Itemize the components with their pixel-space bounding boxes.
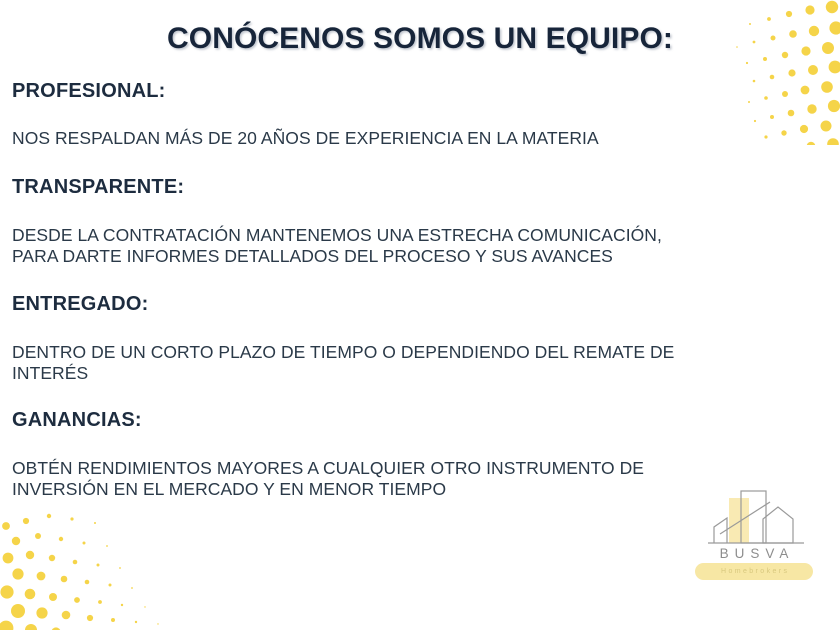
section-heading-profesional: PROFESIONAL:: [12, 80, 599, 103]
building-outline-icon: [700, 488, 815, 550]
section-body-ganancias: OBTÉN RENDIMIENTOS MAYORES A CUALQUIER O…: [12, 458, 644, 499]
section-body-transparente: DESDE LA CONTRATACIÓN MANTENEMOS UNA EST…: [12, 225, 662, 266]
section-ganancias: GANANCIAS: OBTÉN RENDIMIENTOS MAYORES A …: [12, 409, 644, 499]
section-profesional: PROFESIONAL: NOS RESPALDAN MÁS DE 20 AÑO…: [12, 80, 599, 149]
halftone-dots-icon-bottom-left: [0, 510, 175, 630]
section-heading-ganancias: GANANCIAS:: [12, 409, 644, 432]
section-entregado: ENTREGADO: DENTRO DE UN CORTO PLAZO DE T…: [12, 293, 674, 383]
company-logo: BUSVA Homebrokers: [690, 488, 818, 588]
section-heading-transparente: TRANSPARENTE:: [12, 176, 662, 199]
logo-tagline-pill: Homebrokers: [695, 563, 813, 580]
logo-tagline: Homebrokers: [695, 563, 813, 580]
section-body-entregado: DENTRO DE UN CORTO PLAZO DE TIEMPO O DEP…: [12, 342, 674, 383]
logo-name: BUSVA: [690, 546, 818, 561]
section-body-profesional: NOS RESPALDAN MÁS DE 20 AÑOS DE EXPERIEN…: [12, 128, 599, 149]
page-title: CONÓCENOS SOMOS UN EQUIPO:: [0, 22, 840, 56]
section-heading-entregado: ENTREGADO:: [12, 293, 674, 316]
section-transparente: TRANSPARENTE: DESDE LA CONTRATACIÓN MANT…: [12, 176, 662, 266]
slide-canvas: CONÓCENOS SOMOS UN EQUIPO: PROFESIONAL: …: [0, 0, 840, 630]
